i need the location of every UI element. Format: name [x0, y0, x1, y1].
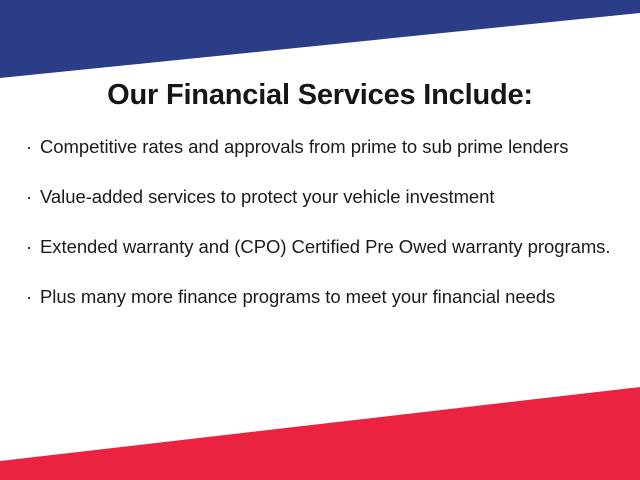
list-item: · Value-added services to protect your v… [26, 184, 621, 210]
bottom-red-band-shape [0, 387, 640, 480]
list-item-label: Extended warranty and (CPO) Certified Pr… [40, 234, 621, 260]
bullet-dot-icon: · [26, 284, 38, 310]
top-blue-band-shape [0, 0, 640, 78]
bullet-dot-icon: · [26, 134, 38, 160]
list-item: · Extended warranty and (CPO) Certified … [26, 234, 621, 260]
slide-canvas: Our Financial Services Include: · Compet… [0, 0, 640, 480]
list-item-label: Competitive rates and approvals from pri… [40, 134, 621, 160]
bullet-dot-icon: · [26, 184, 38, 210]
list-item-label: Value-added services to protect your veh… [40, 184, 621, 210]
list-item: · Competitive rates and approvals from p… [26, 134, 621, 160]
page-title: Our Financial Services Include: [0, 78, 640, 112]
bullet-dot-icon: · [26, 234, 38, 260]
list-item: · Plus many more finance programs to mee… [26, 284, 621, 310]
services-bullet-list: · Competitive rates and approvals from p… [26, 134, 621, 310]
list-item-label: Plus many more finance programs to meet … [40, 284, 621, 310]
